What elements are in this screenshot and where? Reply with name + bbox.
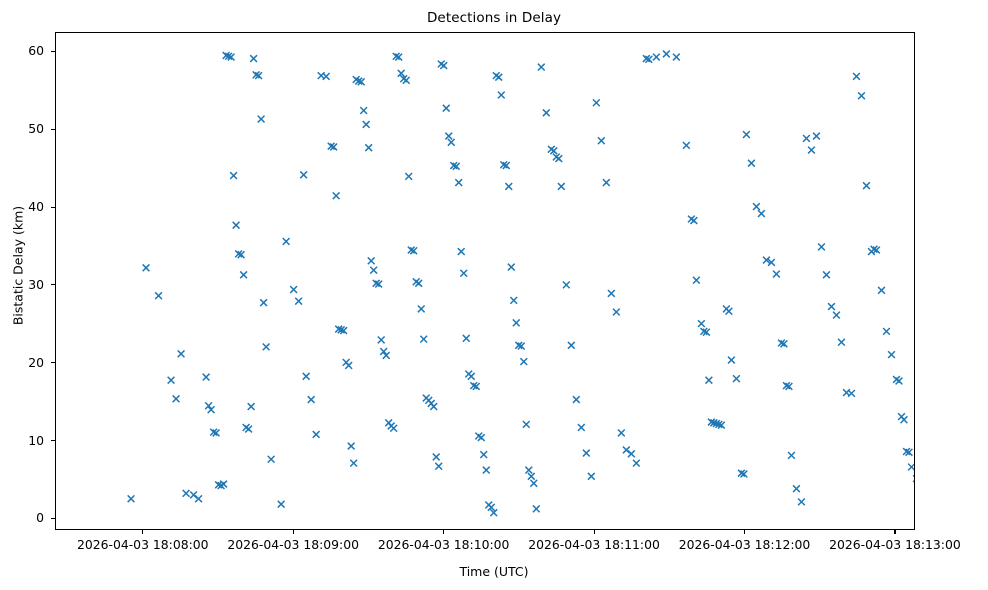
scatter-point bbox=[278, 501, 285, 508]
scatter-point bbox=[348, 443, 355, 450]
scatter-point bbox=[513, 319, 520, 326]
scatter-point bbox=[818, 244, 825, 251]
scatter-point bbox=[333, 192, 340, 199]
scatter-point bbox=[463, 335, 470, 342]
scatter-point bbox=[808, 147, 815, 154]
scatter-point bbox=[203, 374, 210, 381]
scatter-point bbox=[901, 416, 908, 423]
scatter-point bbox=[363, 121, 370, 128]
scatter-point bbox=[573, 396, 580, 403]
scatter-point bbox=[433, 454, 440, 461]
scatter-point bbox=[508, 264, 515, 271]
scatter-point bbox=[190, 492, 197, 499]
scatter-point bbox=[538, 64, 545, 71]
scatter-point bbox=[748, 160, 755, 167]
scatter-point bbox=[350, 460, 357, 467]
x-tick-mark bbox=[744, 530, 745, 534]
scatter-point bbox=[705, 377, 712, 384]
scatter-point bbox=[420, 336, 427, 343]
scatter-point bbox=[555, 155, 562, 162]
scatter-point bbox=[633, 460, 640, 467]
scatter-point bbox=[480, 451, 487, 458]
scatter-point bbox=[673, 54, 680, 61]
scatter-point bbox=[693, 277, 700, 284]
x-axis-label: Time (UTC) bbox=[0, 564, 988, 579]
y-axis-label: Bistatic Delay (km) bbox=[11, 156, 26, 376]
scatter-point bbox=[698, 320, 705, 327]
scatter-point bbox=[858, 92, 865, 99]
y-tick-label: 50 bbox=[4, 123, 44, 135]
scatter-point bbox=[220, 481, 227, 488]
scatter-point bbox=[803, 135, 810, 142]
scatter-point bbox=[260, 299, 267, 306]
scatter-point bbox=[583, 450, 590, 457]
scatter-point bbox=[598, 137, 605, 144]
scatter-point bbox=[628, 450, 635, 457]
scatter-point bbox=[345, 362, 352, 369]
scatter-point bbox=[550, 147, 557, 154]
x-tick-label: 2026-04-03 18:12:00 bbox=[660, 538, 830, 551]
scatter-points-layer bbox=[56, 33, 914, 529]
scatter-point bbox=[233, 222, 240, 229]
scatter-point bbox=[896, 378, 903, 385]
y-tick-label: 60 bbox=[4, 45, 44, 57]
scatter-point bbox=[543, 109, 550, 116]
scatter-point bbox=[440, 62, 447, 69]
scatter-point bbox=[378, 337, 385, 344]
scatter-point bbox=[263, 343, 270, 350]
scatter-point bbox=[415, 280, 422, 287]
x-tick-mark bbox=[142, 530, 143, 534]
scatter-point bbox=[530, 480, 537, 487]
scatter-point bbox=[390, 425, 397, 432]
scatter-point bbox=[418, 306, 425, 313]
scatter-point bbox=[483, 467, 490, 474]
scatter-point bbox=[726, 308, 733, 315]
scatter-point bbox=[743, 131, 750, 138]
y-tick-mark bbox=[51, 518, 55, 519]
scatter-point bbox=[178, 350, 185, 357]
scatter-point bbox=[283, 238, 290, 245]
chart-title: Detections in Delay bbox=[0, 10, 988, 26]
scatter-point bbox=[128, 495, 135, 502]
scatter-point bbox=[368, 257, 375, 264]
scatter-point bbox=[195, 495, 202, 502]
chart-figure: Detections in Delay Bistatic Delay (km) … bbox=[0, 0, 988, 590]
y-tick-mark bbox=[51, 129, 55, 130]
scatter-point bbox=[435, 463, 442, 470]
x-tick-mark bbox=[443, 530, 444, 534]
scatter-point bbox=[788, 452, 795, 459]
scatter-point bbox=[523, 421, 530, 428]
plot-area bbox=[55, 32, 915, 530]
scatter-point bbox=[683, 142, 690, 149]
scatter-point bbox=[495, 74, 502, 81]
y-tick-label: 40 bbox=[4, 201, 44, 213]
scatter-point bbox=[623, 447, 630, 454]
scatter-point bbox=[603, 179, 610, 186]
scatter-point bbox=[445, 133, 452, 140]
scatter-point bbox=[478, 434, 485, 441]
scatter-point bbox=[168, 377, 175, 384]
y-tick-label: 0 bbox=[4, 512, 44, 524]
scatter-point bbox=[878, 287, 885, 294]
scatter-point bbox=[588, 473, 595, 480]
scatter-point bbox=[883, 328, 890, 335]
scatter-point bbox=[250, 55, 257, 62]
scatter-point bbox=[593, 99, 600, 106]
scatter-point bbox=[558, 183, 565, 190]
x-tick-mark bbox=[293, 530, 294, 534]
scatter-point bbox=[313, 431, 320, 438]
scatter-point bbox=[663, 51, 670, 58]
scatter-point bbox=[268, 456, 275, 463]
y-tick-mark bbox=[51, 51, 55, 52]
scatter-point bbox=[838, 339, 845, 346]
y-tick-mark bbox=[51, 440, 55, 441]
scatter-point bbox=[290, 286, 297, 293]
scatter-point bbox=[833, 312, 840, 319]
scatter-point bbox=[863, 182, 870, 189]
scatter-point bbox=[300, 171, 307, 178]
scatter-point bbox=[653, 54, 660, 61]
x-tick-label: 2026-04-03 18:09:00 bbox=[208, 538, 378, 551]
x-tick-label: 2026-04-03 18:11:00 bbox=[509, 538, 679, 551]
y-tick-mark bbox=[51, 284, 55, 285]
scatter-point bbox=[728, 357, 735, 364]
scatter-point bbox=[240, 271, 247, 278]
scatter-point bbox=[908, 464, 914, 471]
scatter-point bbox=[563, 281, 570, 288]
scatter-point bbox=[173, 395, 180, 402]
scatter-point bbox=[230, 172, 237, 179]
y-tick-mark bbox=[51, 207, 55, 208]
y-tick-label: 30 bbox=[4, 279, 44, 291]
x-tick-mark bbox=[894, 530, 895, 534]
scatter-point bbox=[823, 271, 830, 278]
scatter-point bbox=[143, 264, 150, 271]
scatter-point bbox=[528, 473, 535, 480]
scatter-point bbox=[323, 73, 330, 80]
scatter-point bbox=[248, 403, 255, 410]
scatter-point bbox=[758, 210, 765, 217]
x-tick-label: 2026-04-03 18:10:00 bbox=[359, 538, 529, 551]
scatter-point bbox=[448, 139, 455, 146]
scatter-point bbox=[733, 375, 740, 382]
scatter-point bbox=[468, 373, 475, 380]
scatter-point bbox=[798, 498, 805, 505]
scatter-point bbox=[913, 475, 914, 482]
scatter-point bbox=[403, 77, 410, 84]
y-tick-label: 20 bbox=[4, 357, 44, 369]
scatter-point bbox=[370, 267, 377, 274]
scatter-point bbox=[613, 309, 620, 316]
scatter-point bbox=[888, 351, 895, 358]
scatter-point bbox=[618, 430, 625, 437]
x-tick-label: 2026-04-03 18:08:00 bbox=[58, 538, 228, 551]
scatter-point bbox=[568, 342, 575, 349]
scatter-point bbox=[853, 73, 860, 80]
scatter-point bbox=[608, 290, 615, 297]
x-tick-mark bbox=[594, 530, 595, 534]
scatter-point bbox=[578, 424, 585, 431]
scatter-point bbox=[520, 358, 527, 365]
scatter-point bbox=[360, 107, 367, 114]
scatter-point bbox=[455, 179, 462, 186]
scatter-point bbox=[295, 298, 302, 305]
y-tick-label: 10 bbox=[4, 435, 44, 447]
scatter-point bbox=[303, 373, 310, 380]
scatter-point bbox=[460, 270, 467, 277]
scatter-point bbox=[183, 490, 190, 497]
scatter-point bbox=[533, 505, 540, 512]
scatter-point bbox=[365, 144, 372, 151]
scatter-point bbox=[505, 183, 512, 190]
scatter-point bbox=[753, 203, 760, 210]
scatter-point bbox=[458, 248, 465, 255]
scatter-point bbox=[155, 292, 162, 299]
x-tick-label: 2026-04-03 18:13:00 bbox=[810, 538, 980, 551]
scatter-point bbox=[848, 390, 855, 397]
scatter-point bbox=[773, 271, 780, 278]
scatter-point bbox=[828, 303, 835, 310]
scatter-point bbox=[510, 297, 517, 304]
scatter-point bbox=[430, 403, 437, 410]
scatter-point bbox=[308, 396, 315, 403]
scatter-point bbox=[245, 426, 252, 433]
scatter-point bbox=[498, 92, 505, 99]
scatter-point bbox=[690, 217, 697, 224]
scatter-point bbox=[443, 105, 450, 112]
scatter-point bbox=[813, 133, 820, 140]
scatter-point bbox=[793, 485, 800, 492]
scatter-point bbox=[525, 467, 532, 474]
scatter-point bbox=[258, 116, 265, 123]
scatter-point bbox=[405, 173, 412, 180]
y-tick-mark bbox=[51, 362, 55, 363]
